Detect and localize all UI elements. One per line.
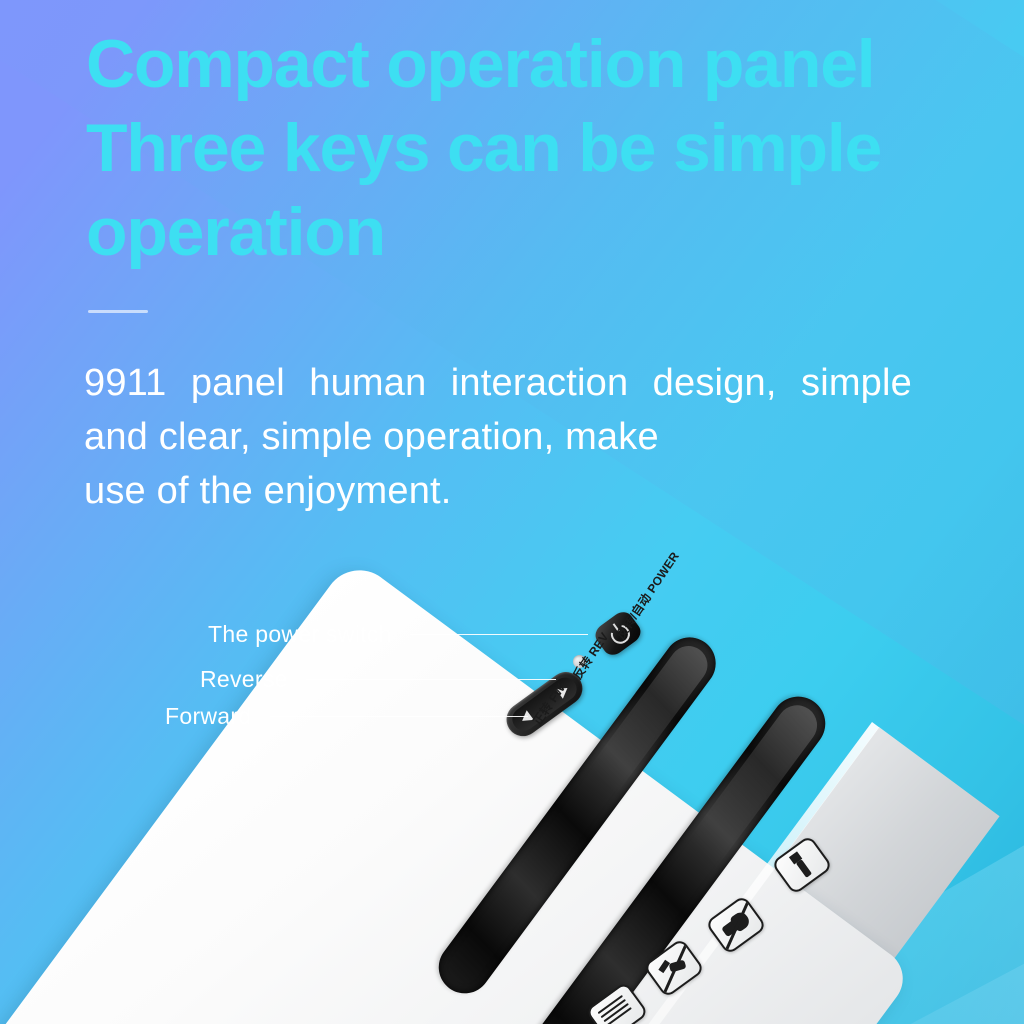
section-divider (88, 310, 148, 313)
callout-leader-line-forward (270, 716, 528, 717)
callout-label-reverse: Reverse (200, 666, 288, 693)
panel-label-fw-cn: 正转 (530, 700, 555, 728)
panel-label-rev-en: REV (586, 630, 612, 659)
led-indicator (573, 655, 586, 668)
no-long-hair-warning-sticker (585, 981, 649, 1024)
panel-label-power-en: POWER (644, 549, 682, 595)
prohibition-slash (724, 896, 751, 952)
body-paragraph-main: 9911 panel human interaction design, sim… (84, 362, 912, 458)
panel-label-power-cn: 反转/自动 (613, 591, 654, 642)
no-spray-warning-sticker (643, 938, 705, 999)
panel-label-power: 反转/自动 POWER (614, 550, 681, 641)
headline: Compact operation panel Three keys can b… (86, 22, 966, 274)
background-diagonal-band-tertiary (305, 811, 1024, 1024)
forward-arrow-icon (556, 683, 571, 699)
callout-label-power-switch: The power switch (208, 621, 392, 648)
no-spray-icon (646, 941, 703, 996)
callout-leader-line-reverse (306, 679, 556, 680)
prohibition-slash (662, 939, 689, 995)
panel-label-rev-cn: 反转 (570, 654, 595, 682)
callout-label-forward: Forward (165, 703, 251, 730)
body-paragraph-lastline: use of the enjoyment. (84, 464, 912, 518)
product-side-wall (546, 727, 1000, 1024)
no-hand-warning-sticker (705, 895, 767, 956)
callout-the-power-switch: The power switch (208, 620, 588, 648)
callout-forward: Forward (165, 702, 528, 730)
power-button[interactable] (591, 608, 644, 659)
body-paragraph: 9911 panel human interaction design, sim… (84, 356, 912, 518)
no-tie-icon (774, 838, 831, 893)
callout-reverse: Reverse (200, 665, 556, 693)
background-diagonal-band-secondary (124, 879, 1024, 1024)
product-edge-highlight (541, 722, 879, 1024)
no-hand-icon (708, 898, 765, 953)
power-icon (607, 621, 634, 648)
product-poster: Compact operation panel Three keys can b… (0, 0, 1024, 1024)
paper-feed-slot-lower (513, 686, 836, 1024)
callout-leader-line-power-switch (410, 634, 588, 635)
no-long-hair-icon (588, 984, 646, 1024)
no-tie-warning-sticker (771, 835, 833, 896)
